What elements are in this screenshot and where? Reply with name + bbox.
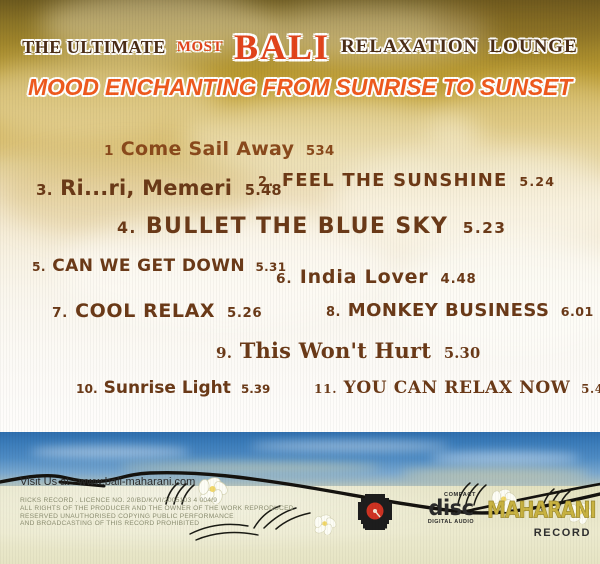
maharani-wordmark: MAHARANI [487,498,591,523]
track-listing-item: 7. COOL RELAX 5.26 [52,300,262,322]
track-title: Come Sail Away [121,138,295,160]
track-listing-item: 4. BULLET THE BLUE SKY 5.23 [117,214,506,239]
title-the-ultimate: THE ULTIMATE [22,37,166,58]
track-time: 5.49 [581,382,600,396]
track-title: Sunrise Light [104,378,231,398]
track-number: 6. [276,271,292,287]
track-time: 534 [306,144,335,159]
track-time: 6.01 [561,304,594,319]
track-title: India Lover [300,266,429,288]
record-label-badge-icon [355,490,395,534]
track-title: CAN WE GET DOWN [52,256,245,276]
cd-back-cover: THE ULTIMATE MOST BALI RELAXATION LOUNGE… [0,0,600,564]
title-bali: BALI [234,29,330,65]
track-listing-item: 10. Sunrise Light 5.39 [76,378,270,398]
track-title: BULLET THE BLUE SKY [146,214,448,239]
track-time: 4.48 [441,272,477,287]
track-title: COOL RELAX [75,300,215,322]
track-number: 9. [216,344,232,362]
legal-line: AND BROADCASTING OF THIS RECORD PROHIBIT… [20,520,310,528]
track-number: 8. [326,305,341,320]
website-url-text[interactable]: Visit Us at : www.bali-maharani.com [20,476,195,488]
track-listing-item: 6. India Lover 4.48 [276,266,477,288]
legal-line: ALL RIGHTS OF THE PRODUCER AND THE OWNER… [20,505,310,513]
title-most: MOST [177,39,223,56]
album-title-row: THE ULTIMATE MOST BALI RELAXATION LOUNGE [0,30,600,64]
legal-line: RESERVED UNAUTHORISED COPYING PUBLIC PER… [20,513,310,521]
track-number: 4. [117,218,137,237]
legal-notice: RICKS RECORD . LICENCE NO. 20/BD/K/VI/20… [20,497,310,528]
track-number: 3. [36,181,53,199]
legal-line: RICKS RECORD . LICENCE NO. 20/BD/K/VI/20… [20,497,310,505]
track-title: Ri...ri, Memeri [60,176,232,200]
title-relaxation: RELAXATION [341,36,478,58]
track-time: 5.30 [444,345,481,362]
track-number: 11. [314,382,337,396]
track-time: 5.39 [241,382,270,396]
track-listing-item: 8. MONKEY BUSINESS 6.01 [326,300,594,321]
maharani-record-logo: MAHARANI RECORD [487,498,591,536]
track-time: 5.48 [245,182,282,199]
track-listing-item: 11. YOU CAN RELAX NOW 5.49 [314,378,600,398]
track-time: 5.24 [519,174,555,189]
track-title: FEEL THE SUNSHINE [282,170,508,191]
compact-disc-logo: COMPACT disc DIGITAL AUDIO [424,492,478,534]
track-listing-item: 9. This Won't Hurt 5.30 [216,338,480,363]
track-listing-item: 3. Ri...ri, Memeri 5.48 [36,176,282,200]
track-number: 7. [52,305,68,321]
cd-logo-main-text: disc [424,498,478,519]
track-listing-item: 5. CAN WE GET DOWN 5.31 [32,256,286,276]
track-number: 5. [32,260,46,274]
track-number: 10. [76,382,98,396]
track-title: YOU CAN RELAX NOW [344,378,571,398]
track-number: 1 [104,143,114,159]
track-listing-item: 1 Come Sail Away 534 [104,138,335,160]
track-title: This Won't Hurt [240,338,431,363]
track-title: MONKEY BUSINESS [348,300,550,321]
cd-logo-bottom-text: DIGITAL AUDIO [424,519,478,526]
track-listing-item: 2. FEEL THE SUNSHINE 5.24 [258,170,555,191]
album-subtitle: MOOD ENCHANTING FROM SUNRISE TO SUNSET [0,74,600,101]
track-time: 5.26 [227,306,262,321]
maharani-record-label: RECORD [487,527,591,539]
track-time: 5.23 [463,219,507,237]
title-lounge: LOUNGE [489,36,577,58]
